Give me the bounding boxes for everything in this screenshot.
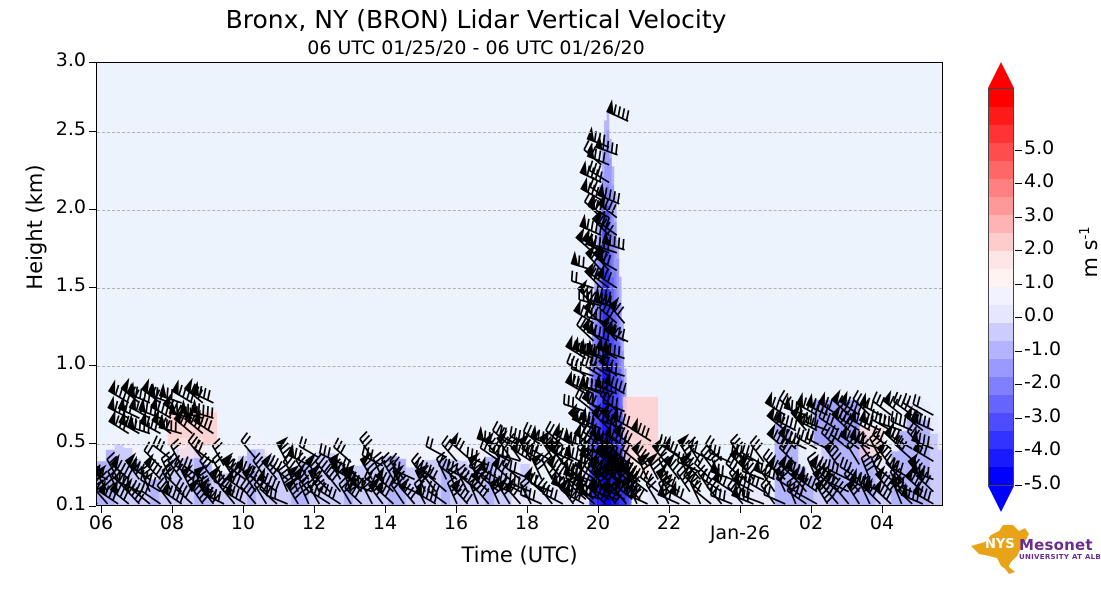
logo-brand-text: Mesonet bbox=[1019, 536, 1093, 554]
x-tick-label: 16 bbox=[421, 512, 491, 534]
y-tick-mark bbox=[89, 506, 96, 507]
colorbar-tick-label: 4.0 bbox=[1024, 170, 1054, 192]
colorbar-tick-mark bbox=[1015, 217, 1022, 218]
y-tick-label: 2.5 bbox=[34, 118, 86, 140]
logo-nys-text: NYS bbox=[985, 537, 1015, 552]
x-tick-label: 12 bbox=[279, 512, 349, 534]
gridline bbox=[97, 366, 942, 367]
chart-subtitle: 06 UTC 01/25/20 - 06 UTC 01/26/20 bbox=[0, 37, 952, 59]
gridline bbox=[97, 288, 942, 289]
colorbar-tick-label: -4.0 bbox=[1024, 438, 1061, 460]
x-tick-label: 20 bbox=[563, 512, 633, 534]
colorbar-tick-label: -5.0 bbox=[1024, 472, 1061, 494]
y-tick-mark bbox=[89, 131, 96, 132]
colorbar-tick-label: -1.0 bbox=[1024, 338, 1061, 360]
colorbar-gradient bbox=[988, 88, 1014, 486]
x-tick-date-label: Jan-26 bbox=[705, 522, 775, 544]
gridline bbox=[97, 132, 942, 133]
y-tick-label: 3.0 bbox=[34, 49, 86, 71]
x-tick-label: 22 bbox=[634, 512, 704, 534]
colorbar-tick-label: -2.0 bbox=[1024, 371, 1061, 393]
x-tick-label: 06 bbox=[66, 512, 136, 534]
nys-mesonet-logo[interactable]: NYS Mesonet UNIVERSITY AT ALBANY bbox=[963, 522, 1095, 580]
colorbar-extend-min-arrow bbox=[988, 486, 1014, 512]
colorbar-tick-label: 2.0 bbox=[1024, 237, 1054, 259]
x-tick-label: 18 bbox=[492, 512, 562, 534]
y-tick-mark bbox=[89, 443, 96, 444]
colorbar-tick-mark bbox=[1015, 418, 1022, 419]
gridline bbox=[97, 210, 942, 211]
colorbar-tick-label: -3.0 bbox=[1024, 405, 1061, 427]
colorbar-tick-mark bbox=[1015, 317, 1022, 318]
colorbar-tick-mark bbox=[1015, 150, 1022, 151]
y-tick-label: 0.5 bbox=[34, 430, 86, 452]
y-tick-label: 2.0 bbox=[34, 196, 86, 218]
plot-area[interactable] bbox=[96, 62, 943, 506]
x-tick-mark bbox=[740, 506, 741, 513]
x-tick-label: 02 bbox=[776, 512, 846, 534]
velocity-field-and-barbs bbox=[97, 63, 943, 506]
colorbar-extend-max-arrow bbox=[988, 62, 1014, 88]
y-tick-label: 1.0 bbox=[34, 352, 86, 374]
y-tick-label: 1.5 bbox=[34, 274, 86, 296]
colorbar-tick-mark bbox=[1015, 284, 1022, 285]
y-tick-mark bbox=[89, 365, 96, 366]
y-tick-mark bbox=[89, 62, 96, 63]
chart-title: Bronx, NY (BRON) Lidar Vertical Velocity bbox=[0, 5, 952, 34]
colorbar-unit-exponent: -1 bbox=[1078, 226, 1093, 239]
colorbar-tick-mark bbox=[1015, 250, 1022, 251]
colorbar-tick-label: 3.0 bbox=[1024, 204, 1054, 226]
lidar-vertical-velocity-figure: Bronx, NY (BRON) Lidar Vertical Velocity… bbox=[0, 0, 1101, 600]
colorbar-tick-label: 1.0 bbox=[1024, 271, 1054, 293]
x-tick-label: 10 bbox=[208, 512, 278, 534]
x-tick-label: 14 bbox=[350, 512, 420, 534]
colorbar-tick-mark bbox=[1015, 183, 1022, 184]
x-tick-label: 08 bbox=[137, 512, 207, 534]
x-tick-label: 04 bbox=[847, 512, 917, 534]
y-tick-mark bbox=[89, 209, 96, 210]
colorbar-tick-mark bbox=[1015, 451, 1022, 452]
colorbar-unit-text: m s bbox=[1078, 239, 1101, 277]
gridline bbox=[97, 444, 942, 445]
logo-affiliation-text: UNIVERSITY AT ALBANY bbox=[1019, 553, 1101, 561]
colorbar-tick-label: 5.0 bbox=[1024, 137, 1054, 159]
colorbar[interactable]: 5.04.03.02.01.00.0-1.0-2.0-3.0-4.0-5.0 bbox=[988, 62, 1014, 512]
colorbar-tick-mark bbox=[1015, 384, 1022, 385]
x-axis-label: Time (UTC) bbox=[96, 543, 943, 567]
colorbar-tick-mark bbox=[1015, 351, 1022, 352]
colorbar-tick-mark bbox=[1015, 485, 1022, 486]
colorbar-tick-label: 0.0 bbox=[1024, 304, 1054, 326]
colorbar-label: m s-1 bbox=[1078, 172, 1101, 332]
y-tick-mark bbox=[89, 287, 96, 288]
